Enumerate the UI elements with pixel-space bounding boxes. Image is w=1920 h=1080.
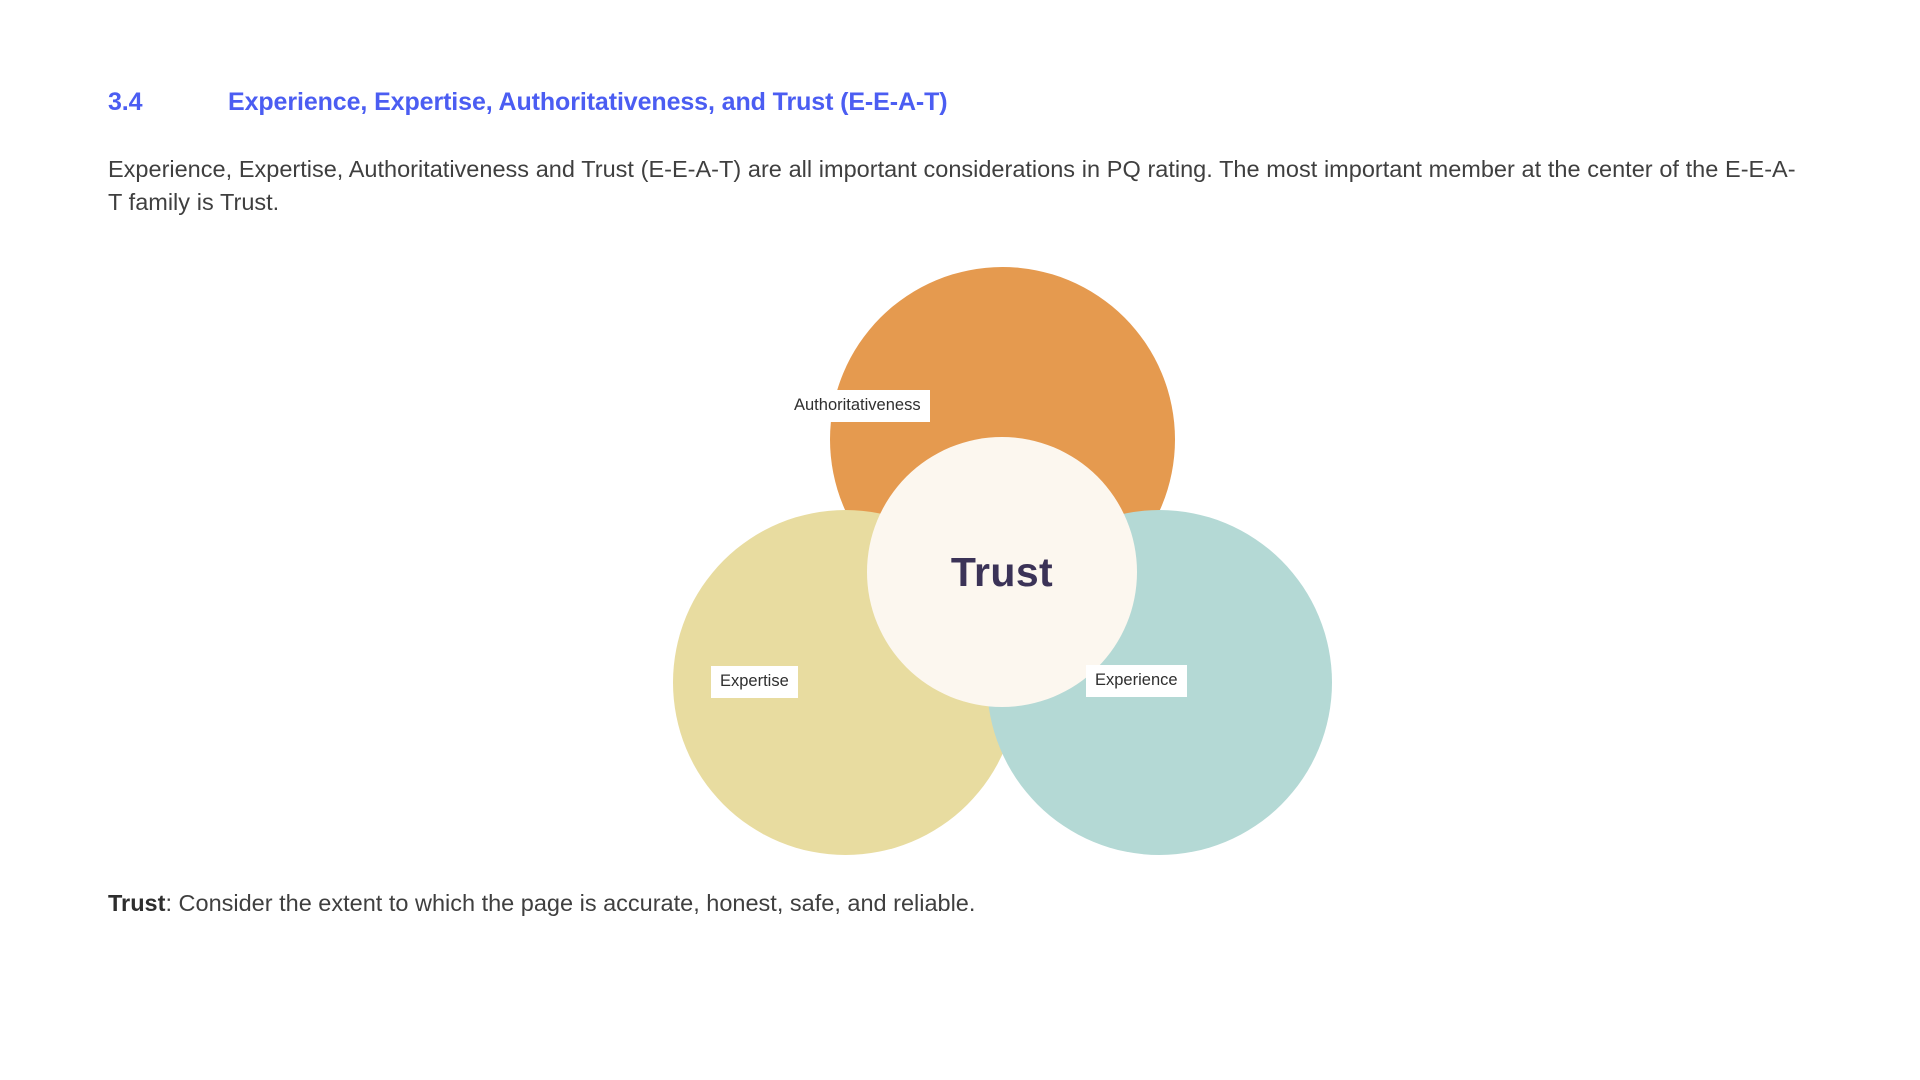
venn-diagram: Trust Authoritativeness Expertise Experi… bbox=[673, 267, 1333, 867]
section-heading: 3.4 Experience, Expertise, Authoritative… bbox=[108, 88, 1828, 117]
trust-definition-separator: : bbox=[165, 890, 178, 916]
trust-definition-term: Trust bbox=[108, 890, 165, 916]
section-number: 3.4 bbox=[108, 88, 228, 117]
section-title: Experience, Expertise, Authoritativeness… bbox=[228, 88, 948, 117]
intro-paragraph: Experience, Expertise, Authoritativeness… bbox=[108, 153, 1808, 219]
trust-definition-note: Trust: Consider the extent to which the … bbox=[108, 887, 1828, 920]
venn-label-trust: Trust bbox=[951, 549, 1053, 596]
venn-label-authoritativeness: Authoritativeness bbox=[785, 390, 930, 422]
venn-label-experience: Experience bbox=[1086, 665, 1187, 697]
document-content: 3.4 Experience, Expertise, Authoritative… bbox=[108, 0, 1828, 944]
venn-diagram-container: Trust Authoritativeness Expertise Experi… bbox=[108, 257, 1828, 877]
venn-label-expertise: Expertise bbox=[711, 666, 798, 698]
trust-definition-text: Consider the extent to which the page is… bbox=[179, 890, 976, 916]
document-page: 3.4 Experience, Expertise, Authoritative… bbox=[0, 0, 1920, 1080]
